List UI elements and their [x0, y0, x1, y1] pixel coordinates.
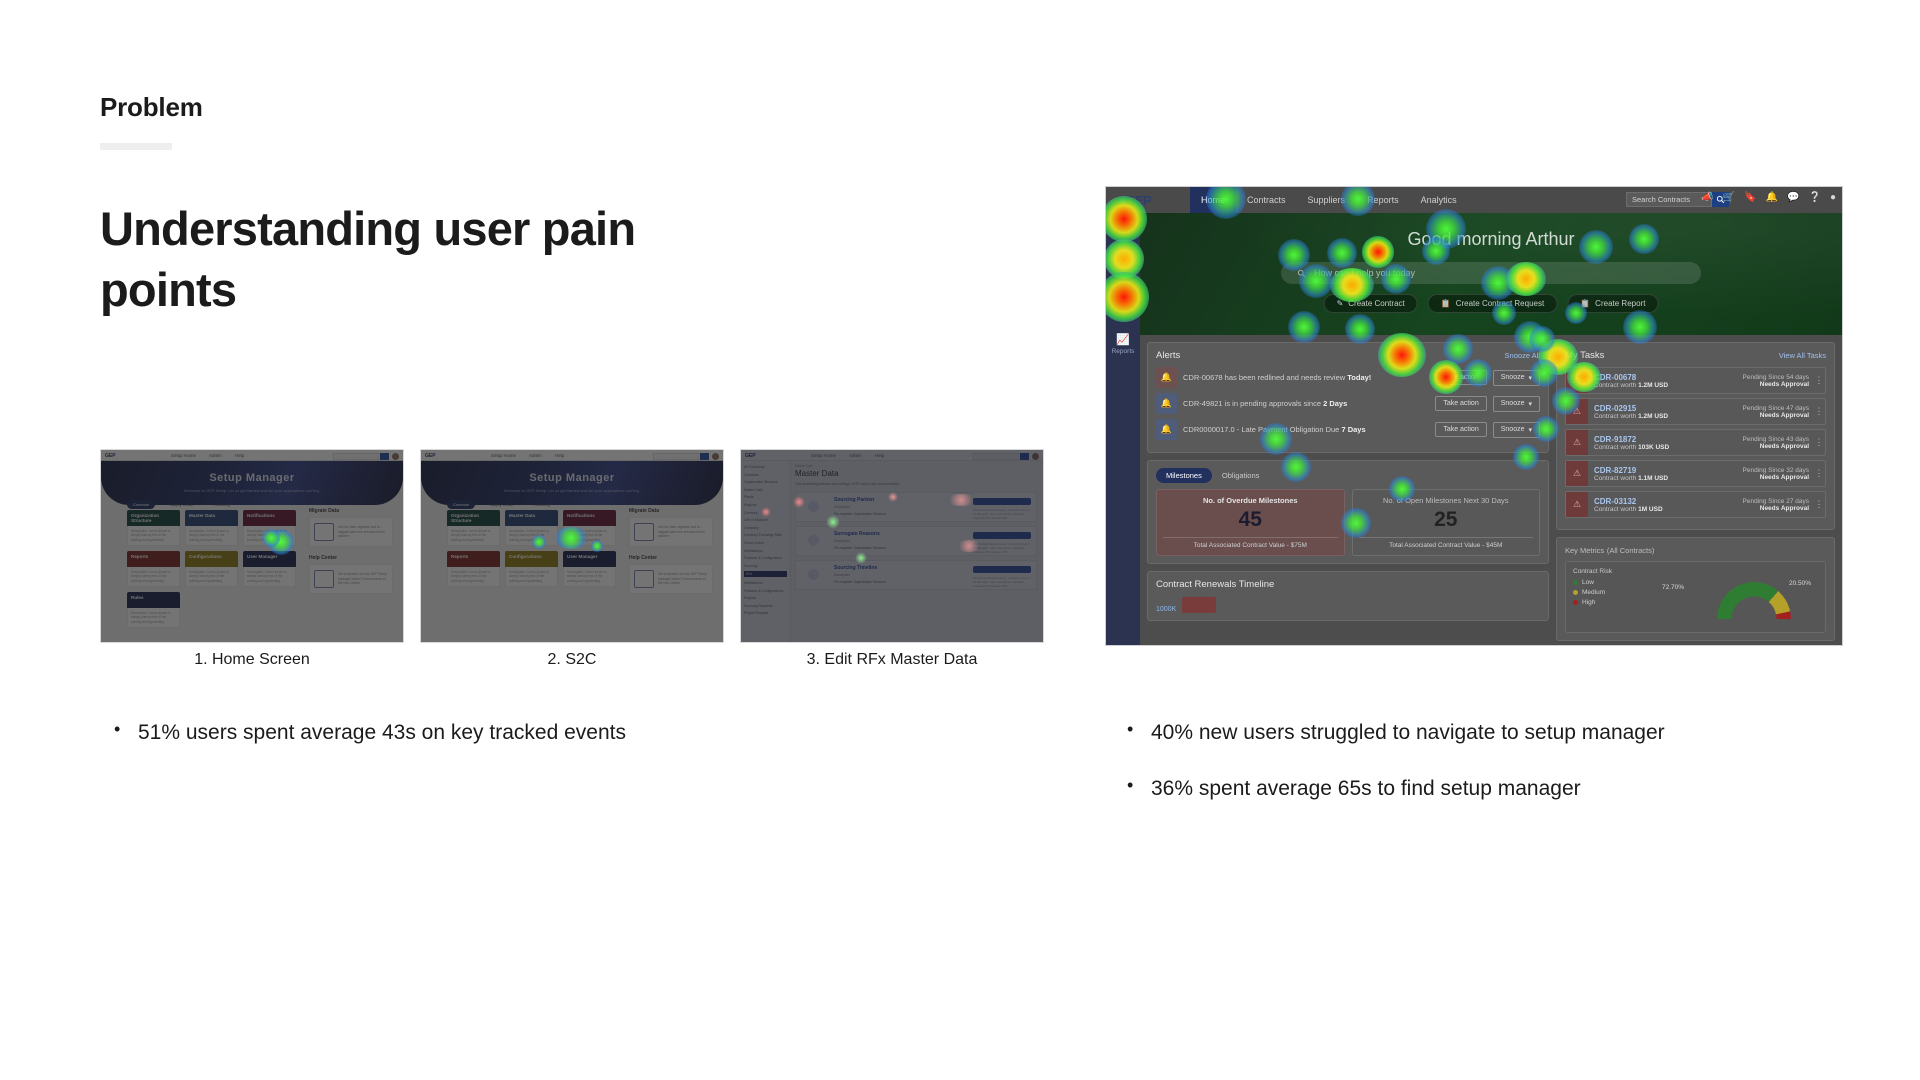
- bookmark-icon[interactable]: 🔖: [1744, 192, 1756, 203]
- chart-icon: 📈: [1106, 333, 1140, 346]
- assistant-search-input[interactable]: How can I help you today: [1281, 262, 1701, 284]
- task-pending: Pending Since 32 days: [1743, 467, 1810, 474]
- status-badge: Needs Approval: [1743, 474, 1810, 481]
- chat-icon[interactable]: 💬: [1787, 192, 1799, 203]
- milestones-tabs: Milestones Obligations: [1156, 468, 1540, 483]
- contract-renewals-panel: Contract Renewals Timeline 1000K: [1147, 571, 1549, 621]
- snooze-button[interactable]: Snooze▾: [1493, 422, 1540, 438]
- medium-percent: 20.50%: [1789, 580, 1811, 587]
- renewals-axis-label: 1000K: [1156, 606, 1176, 613]
- task-pending: Pending Since 54 days: [1743, 374, 1810, 381]
- card-footer: Total Associated Contract Value - $75M: [1163, 537, 1338, 549]
- milestones-panel: Milestones Obligations No. of Overdue Mi…: [1147, 460, 1549, 564]
- button-label: Create Contract: [1348, 299, 1404, 308]
- status-badge: Needs Approval: [1743, 443, 1810, 450]
- create-contract-button[interactable]: ✎ Create Contract: [1324, 294, 1418, 313]
- dashboard-mock: ◕GEP Home Contracts Suppliers Reports An…: [1106, 187, 1842, 645]
- card-title: No. of Overdue Milestones: [1163, 496, 1338, 505]
- chevron-down-icon: ▾: [1528, 426, 1532, 434]
- task-row[interactable]: ⚠ CDR-91872 Contract worth 103K USD Pend…: [1565, 429, 1826, 456]
- risk-gauge: [1717, 582, 1791, 622]
- nav-item-suppliers[interactable]: Suppliers: [1297, 187, 1357, 213]
- alert-text: CDR0000017.0 - Late Payment Obligation D…: [1183, 425, 1429, 434]
- alert-row[interactable]: 🔔 CDR-49821 is in pending approvals sinc…: [1156, 393, 1540, 414]
- chart-label: Contract Risk: [1573, 568, 1818, 575]
- dashboard-body: Alerts Snooze All 🔔 CDR-00678 has been r…: [1140, 335, 1842, 645]
- task-pending: Pending Since 43 days: [1743, 436, 1810, 443]
- card-value: 45: [1163, 508, 1338, 532]
- snooze-all-link[interactable]: Snooze All: [1505, 351, 1540, 360]
- gep-logo: ◕GEP: [1118, 193, 1151, 208]
- nav-item-analytics[interactable]: Analytics: [1410, 187, 1468, 213]
- task-pending: Pending Since 47 days: [1743, 405, 1810, 412]
- my-tasks-panel: My Tasks View All Tasks ⚠ CDR-00678 Cont…: [1556, 342, 1835, 530]
- status-badge: Needs Approval: [1743, 412, 1810, 419]
- thumbnail-home-screen[interactable]: GEP Setup Home Admin Help Setup Manager …: [100, 449, 404, 643]
- tab-milestones[interactable]: Milestones: [1156, 468, 1212, 483]
- dashboard-sidebar: « 📈 Reports: [1106, 213, 1140, 645]
- alerts-title: Alerts: [1156, 350, 1180, 361]
- card-value: 25: [1359, 508, 1534, 532]
- key-metrics-panel: Key Metrics (All Contracts) Contract Ris…: [1556, 537, 1835, 641]
- thumbnail-overlay: [101, 450, 403, 642]
- button-label: Create Contract Request: [1456, 299, 1545, 308]
- dashboard-top-nav: ◕GEP Home Contracts Suppliers Reports An…: [1106, 187, 1842, 213]
- warning-icon: ⚠: [1566, 430, 1588, 455]
- thumbnail-overlay: [421, 450, 723, 642]
- task-worth: Contract worth 1.1M USD: [1594, 475, 1743, 482]
- tab-obligations[interactable]: Obligations: [1222, 471, 1260, 480]
- findings-right: 40% new users struggled to navigate to s…: [1123, 718, 1683, 830]
- warning-icon: ⚠: [1566, 461, 1588, 486]
- list-item: 51% users spent average 43s on key track…: [110, 718, 630, 748]
- title-divider: [100, 143, 172, 150]
- clipboard-icon: 📋: [1580, 299, 1590, 308]
- thumbnail-overlay: [741, 450, 1043, 642]
- status-badge: Needs Approval: [1743, 381, 1810, 388]
- kebab-menu-icon[interactable]: ⋮: [1813, 437, 1825, 448]
- warning-icon: ⚠: [1566, 492, 1588, 517]
- view-all-tasks-link[interactable]: View All Tasks: [1779, 351, 1826, 360]
- task-id: CDR-91872: [1594, 435, 1743, 444]
- card-title: No. of Open Milestones Next 30 Days: [1359, 496, 1534, 505]
- take-action-button[interactable]: Take action: [1435, 396, 1486, 411]
- sidebar-item-reports[interactable]: 📈 Reports: [1106, 333, 1140, 355]
- eyebrow-label: Problem: [100, 92, 203, 123]
- contract-risk-chart: Contract Risk Low Medium High 72.70% 20.…: [1565, 561, 1826, 633]
- quick-actions: ✎ Create Contract 📋 Create Contract Requ…: [1324, 294, 1659, 313]
- dashboard-heatmap-screenshot[interactable]: ◕GEP Home Contracts Suppliers Reports An…: [1105, 186, 1843, 646]
- clipboard-icon: 📋: [1441, 299, 1451, 308]
- low-percent: 72.70%: [1662, 584, 1684, 591]
- kebab-menu-icon[interactable]: ⋮: [1813, 468, 1825, 479]
- overdue-milestones-card[interactable]: No. of Overdue Milestones 45 Total Assoc…: [1156, 489, 1345, 556]
- collapse-sidebar-icon[interactable]: «: [1130, 217, 1134, 226]
- task-id: CDR-03132: [1594, 497, 1743, 506]
- take-action-button[interactable]: Take action: [1435, 422, 1486, 437]
- nav-item-contracts[interactable]: Contracts: [1236, 187, 1297, 213]
- open-milestones-card[interactable]: No. of Open Milestones Next 30 Days 25 T…: [1352, 489, 1541, 556]
- nav-item-reports[interactable]: Reports: [1356, 187, 1410, 213]
- snooze-button[interactable]: Snooze▾: [1493, 396, 1540, 412]
- task-row[interactable]: ⚠ CDR-03132 Contract worth 1M USD Pendin…: [1565, 491, 1826, 518]
- nav-item-home[interactable]: Home: [1190, 187, 1236, 213]
- thumbnail-caption: 2. S2C: [420, 651, 724, 669]
- kebab-menu-icon[interactable]: ⋮: [1813, 406, 1825, 417]
- key-metrics-title: Key Metrics (All Contracts): [1565, 545, 1826, 556]
- findings-left: 51% users spent average 43s on key track…: [110, 718, 630, 774]
- task-id: CDR-02915: [1594, 404, 1743, 413]
- dashboard-nav-items: Home Contracts Suppliers Reports Analyti…: [1190, 187, 1468, 213]
- search-contracts-input[interactable]: Search Contracts: [1626, 192, 1712, 207]
- snooze-button[interactable]: Snooze▾: [1493, 370, 1540, 386]
- take-action-button[interactable]: Take action: [1435, 370, 1486, 385]
- bell-icon: 🔔: [1156, 419, 1177, 440]
- avatar[interactable]: ●: [1830, 192, 1836, 203]
- task-row[interactable]: ⚠ CDR-00678 Contract worth 1.2M USD Pend…: [1565, 367, 1826, 394]
- task-worth: Contract worth 1.2M USD: [1594, 413, 1743, 420]
- dashboard-left-column: Alerts Snooze All 🔔 CDR-00678 has been r…: [1147, 342, 1549, 638]
- renewals-bar[interactable]: [1182, 597, 1216, 613]
- bell-icon[interactable]: 🔔: [1766, 192, 1778, 203]
- cart-icon[interactable]: 🛒: [1723, 192, 1735, 203]
- list-item: 40% new users struggled to navigate to s…: [1123, 718, 1683, 748]
- dashboard-nav-icons: 📣 🛒 🔖 🔔 💬 ❔ ●: [1701, 192, 1836, 203]
- slide: Problem Understanding user pain points G…: [0, 0, 1920, 1080]
- assistant-placeholder: How can I help you today: [1314, 268, 1415, 278]
- chevron-down-icon: ▾: [1528, 400, 1532, 408]
- alert-row[interactable]: 🔔 CDR-00678 has been redlined and needs …: [1156, 367, 1540, 388]
- thumbnail-s2c[interactable]: GEP Setup Home Admin Help Setup Manager …: [420, 449, 724, 643]
- thumbnail-edit-rfx-master-data[interactable]: GEP Setup Home Admin Help All Functional…: [740, 449, 1044, 643]
- renewals-title: Contract Renewals Timeline: [1156, 579, 1540, 590]
- create-report-button[interactable]: 📋 Create Report: [1567, 294, 1658, 313]
- kebab-menu-icon[interactable]: ⋮: [1813, 375, 1825, 386]
- bell-icon: 🔔: [1156, 367, 1177, 388]
- alert-text: CDR-00678 has been redlined and needs re…: [1183, 373, 1429, 382]
- list-item: 36% spent average 65s to find setup mana…: [1123, 774, 1683, 804]
- page-title: Understanding user pain points: [100, 198, 720, 320]
- bell-icon: 🔔: [1156, 393, 1177, 414]
- task-worth: Contract worth 1.2M USD: [1594, 382, 1743, 389]
- kebab-menu-icon[interactable]: ⋮: [1813, 499, 1825, 510]
- edit-icon: ✎: [1337, 299, 1344, 308]
- task-row[interactable]: ⚠ CDR-82719 Contract worth 1.1M USD Pend…: [1565, 460, 1826, 487]
- task-worth: Contract worth 1M USD: [1594, 506, 1743, 513]
- search-icon: [1297, 269, 1306, 278]
- sidebar-item-label: Reports: [1112, 348, 1135, 355]
- chevron-down-icon: ▾: [1528, 374, 1532, 382]
- alert-text: CDR-49821 is in pending approvals since …: [1183, 399, 1429, 408]
- card-footer: Total Associated Contract Value - $45M: [1359, 537, 1534, 549]
- warning-icon: ⚠: [1566, 368, 1588, 393]
- dashboard-hero: Good morning Arthur How can I help you t…: [1140, 213, 1842, 335]
- task-id: CDR-82719: [1594, 466, 1743, 475]
- create-contract-request-button[interactable]: 📋 Create Contract Request: [1428, 294, 1557, 313]
- status-badge: Needs Approval: [1743, 505, 1810, 512]
- megaphone-icon[interactable]: 📣: [1701, 192, 1713, 203]
- dashboard-right-column: My Tasks View All Tasks ⚠ CDR-00678 Cont…: [1556, 342, 1835, 638]
- warning-icon: ⚠: [1566, 399, 1588, 424]
- tasks-title: My Tasks: [1565, 350, 1604, 361]
- greeting: Good morning Arthur: [1140, 229, 1842, 250]
- help-icon[interactable]: ❔: [1809, 192, 1821, 203]
- thumbnail-caption: 1. Home Screen: [100, 651, 404, 669]
- thumbnail-caption: 3. Edit RFx Master Data: [740, 651, 1044, 669]
- task-worth: Contract worth 103K USD: [1594, 444, 1743, 451]
- task-pending: Pending Since 27 days: [1743, 498, 1810, 505]
- alerts-panel: Alerts Snooze All 🔔 CDR-00678 has been r…: [1147, 342, 1549, 453]
- milestone-cards: No. of Overdue Milestones 45 Total Assoc…: [1156, 489, 1540, 556]
- alert-row[interactable]: 🔔 CDR0000017.0 - Late Payment Obligation…: [1156, 419, 1540, 440]
- task-id: CDR-00678: [1594, 373, 1743, 382]
- button-label: Create Report: [1595, 299, 1645, 308]
- task-row[interactable]: ⚠ CDR-02915 Contract worth 1.2M USD Pend…: [1565, 398, 1826, 425]
